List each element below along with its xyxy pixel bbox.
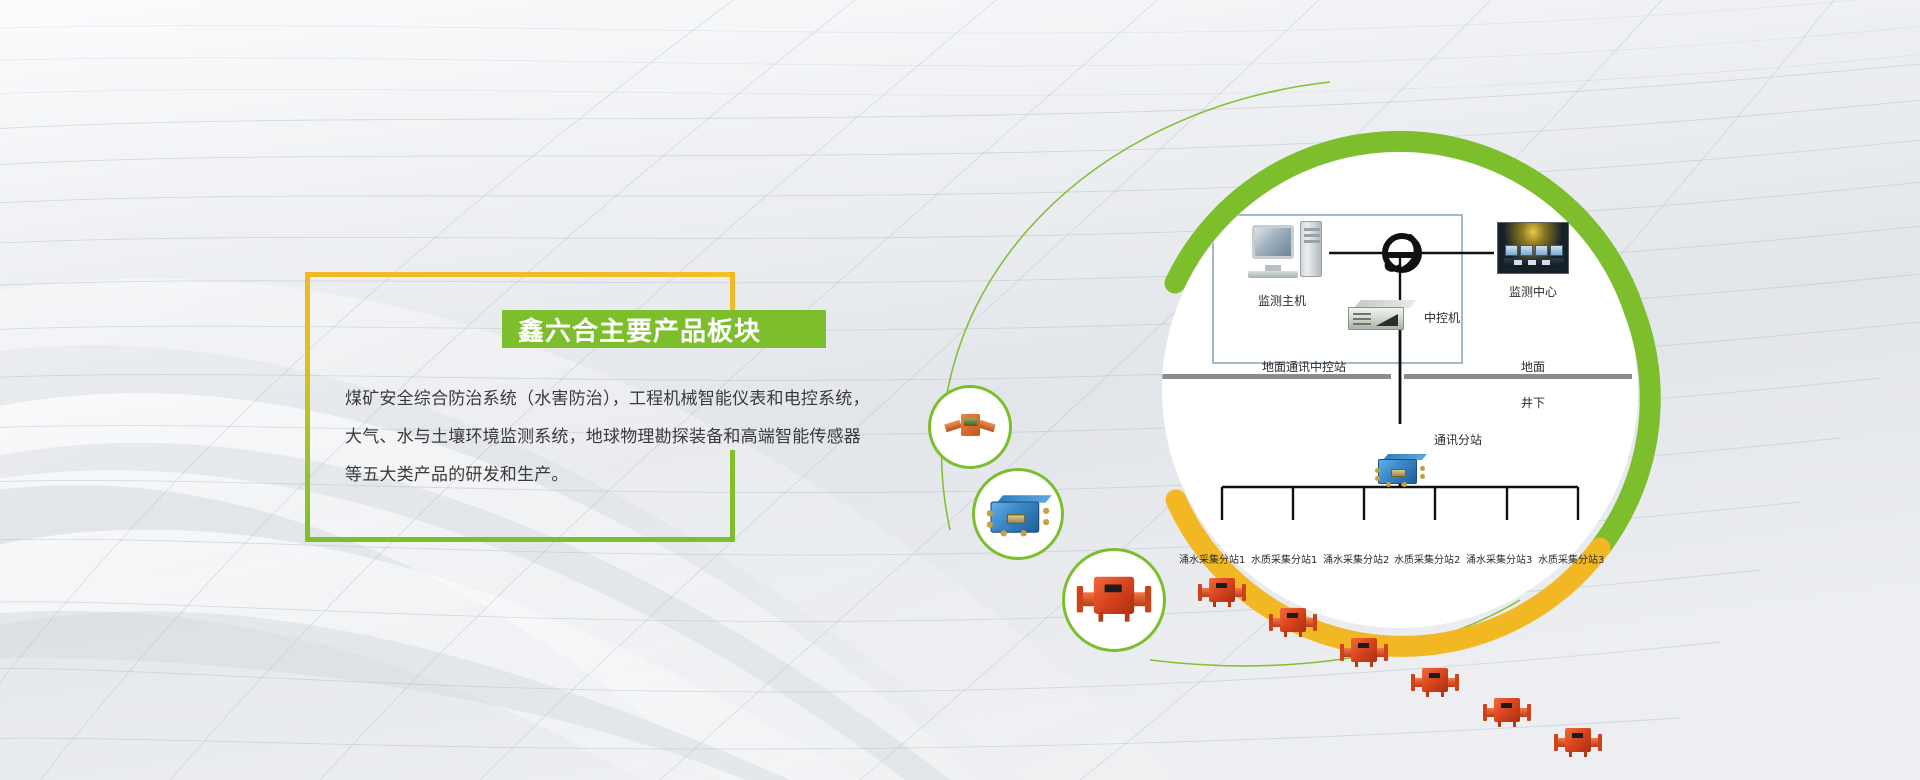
label-ground: 地面 — [1521, 358, 1545, 375]
orange-sensor-icon — [947, 414, 993, 440]
page-title: 鑫六合主要产品板块 — [502, 311, 761, 348]
label-underground: 井下 — [1521, 394, 1545, 411]
node-device-icon-5 — [1484, 698, 1530, 728]
node-device-icon-2 — [1270, 608, 1316, 638]
label-node-6: 水质采集分站3 — [1538, 551, 1604, 566]
frame-edge-top — [305, 272, 735, 277]
frame-edge-left — [305, 272, 310, 542]
node-device-icon-4 — [1412, 668, 1458, 698]
label-node-3: 涌水采集分站2 — [1323, 551, 1389, 566]
section-description: 煤矿安全综合防治系统（水害防治），工程机械智能仪表和电控系统，大气、水与土壤环境… — [345, 380, 875, 494]
blue-junction-box-icon — [991, 495, 1046, 533]
label-ground-control-station: 地面通讯中控站 — [1262, 358, 1346, 375]
communication-substation-icon — [1378, 454, 1422, 484]
label-node-1: 涌水采集分站1 — [1179, 551, 1245, 566]
frame-edge-bottom — [305, 537, 735, 542]
monitoring-center-icon — [1497, 222, 1569, 274]
label-monitoring-center: 监测中心 — [1509, 283, 1557, 300]
red-flow-station-icon — [1078, 577, 1149, 624]
label-monitoring-host: 监测主机 — [1258, 292, 1306, 309]
label-node-4: 水质采集分站2 — [1394, 551, 1460, 566]
water-station-badge[interactable] — [1062, 548, 1166, 652]
node-device-icon-1 — [1199, 578, 1245, 608]
label-central-controller: 中控机 — [1424, 309, 1460, 326]
label-communication-substation: 通讯分站 — [1434, 431, 1482, 448]
communication-box-badge[interactable] — [972, 468, 1064, 560]
node-device-icon-3 — [1341, 638, 1387, 668]
section-title-banner: 鑫六合主要产品板块 — [502, 310, 826, 348]
label-node-5: 涌水采集分站3 — [1466, 551, 1532, 566]
sensor-device-badge[interactable] — [928, 385, 1012, 469]
label-node-2: 水质采集分站1 — [1251, 551, 1317, 566]
central-controller-icon — [1348, 300, 1410, 330]
node-device-icon-6 — [1555, 728, 1601, 758]
